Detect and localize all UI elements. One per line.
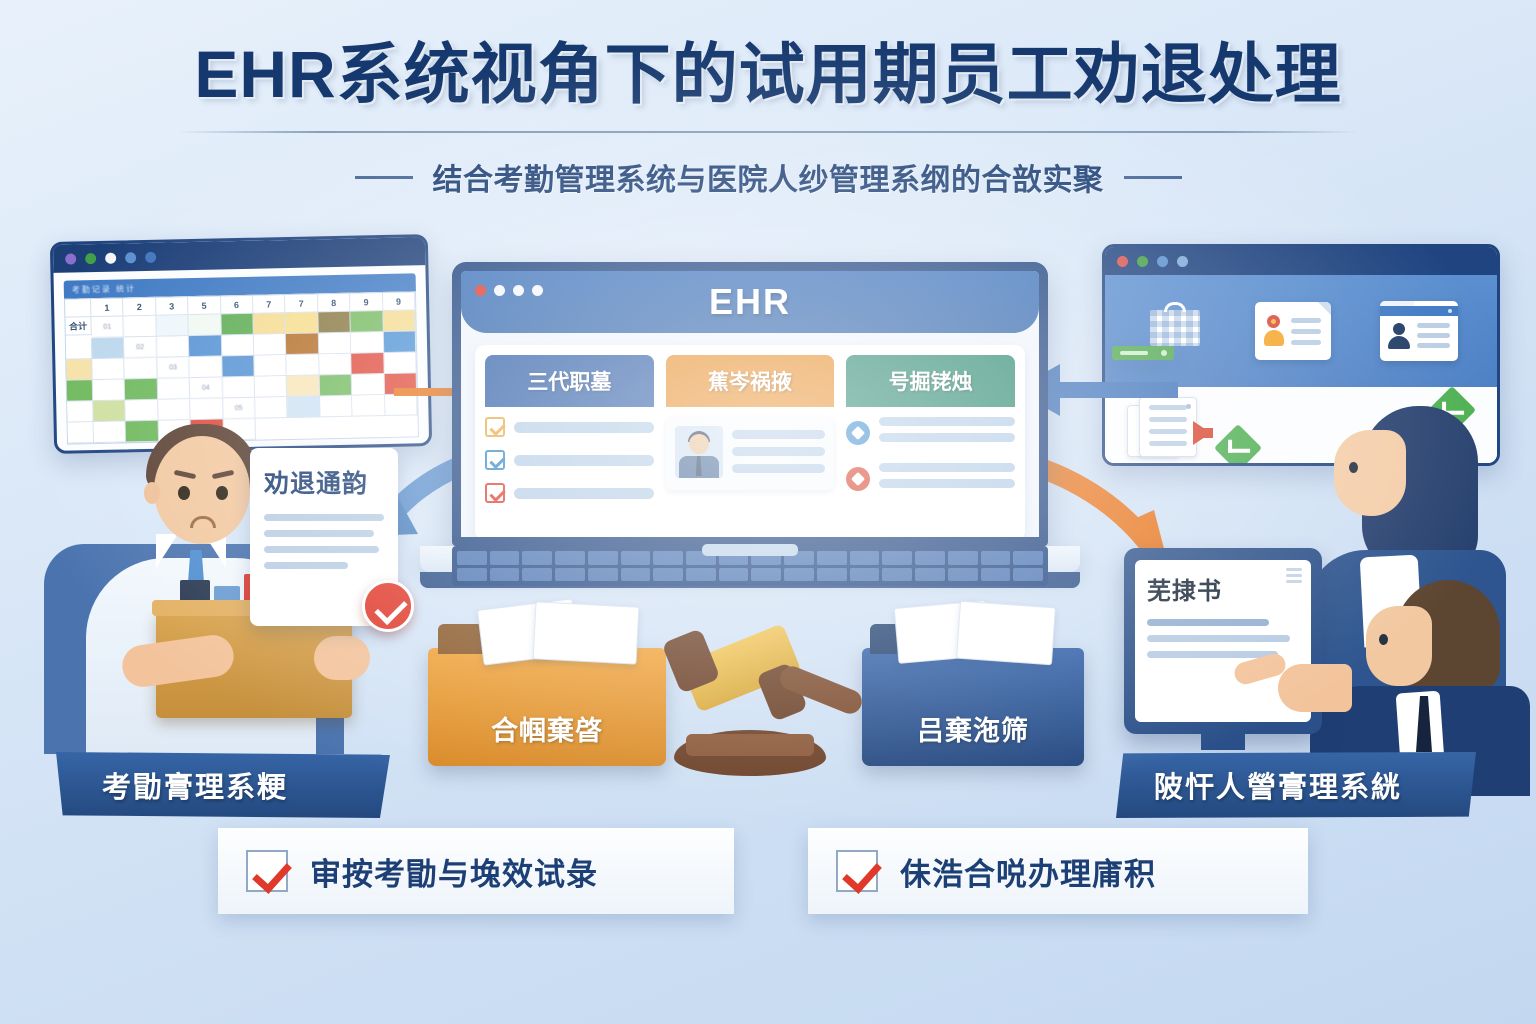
attendance-cell[interactable] bbox=[319, 354, 352, 376]
window-dot-1[interactable] bbox=[65, 253, 76, 264]
attendance-cell[interactable] bbox=[286, 333, 319, 355]
id-card-icon bbox=[1380, 301, 1458, 361]
ehr-title: EHR bbox=[709, 281, 791, 323]
checkbox-item-3[interactable] bbox=[485, 483, 654, 503]
employee-info-lines bbox=[732, 426, 826, 481]
app-window-dots bbox=[475, 285, 543, 296]
status-indicator-approved[interactable] bbox=[846, 417, 1015, 449]
banner-hr-system: 陂忓人謍膏理系絖 bbox=[1116, 752, 1476, 818]
attendance-cell[interactable] bbox=[352, 374, 385, 396]
attendance-cell[interactable] bbox=[125, 358, 158, 380]
attendance-cell[interactable] bbox=[318, 312, 351, 334]
window-dot-2[interactable] bbox=[85, 253, 96, 264]
checkbox-icon[interactable] bbox=[485, 417, 505, 437]
attendance-col-header: 7 bbox=[253, 295, 286, 314]
page-title: EHR系统视角下的试用期员工劝退处理 bbox=[0, 40, 1536, 109]
laptop-base bbox=[420, 546, 1080, 572]
notice-title: 劝退通韵 bbox=[264, 464, 384, 500]
attendance-cell[interactable] bbox=[222, 356, 255, 378]
hr-man-face bbox=[1366, 606, 1432, 686]
pointing-hand bbox=[1278, 664, 1352, 712]
attendance-cell[interactable] bbox=[383, 331, 416, 353]
attendance-col-header: 5 bbox=[188, 296, 221, 315]
employee-right-arm bbox=[314, 636, 370, 680]
ehr-status-column bbox=[846, 417, 1015, 516]
attendance-cell[interactable] bbox=[287, 354, 320, 376]
checklist-text-bar bbox=[514, 488, 654, 499]
attendance-header-text: 考勤记录 统计 bbox=[72, 283, 136, 295]
attendance-cell[interactable] bbox=[352, 395, 385, 417]
window-dot-2[interactable] bbox=[494, 285, 505, 296]
attendance-col-header: 8 bbox=[318, 294, 351, 313]
attendance-cell[interactable] bbox=[189, 356, 222, 378]
window-dot-3[interactable] bbox=[513, 285, 524, 296]
status-dot-icon[interactable] bbox=[846, 421, 870, 445]
attendance-col-header: 9 bbox=[383, 292, 416, 311]
tab-performance[interactable]: 蕉岑祸掖 bbox=[666, 355, 835, 407]
attendance-cell[interactable] bbox=[67, 380, 93, 402]
window-close-dot[interactable] bbox=[475, 285, 486, 296]
window-dot-3[interactable] bbox=[1157, 256, 1168, 267]
ehr-tab-bar: 三代职墓蕉岑祸掖号掘铑烛 bbox=[485, 355, 1015, 407]
folder-employee-label: 吕棄沲筛 bbox=[917, 709, 1029, 748]
attendance-cell[interactable] bbox=[222, 377, 255, 399]
attendance-cell[interactable] bbox=[124, 316, 157, 338]
checkbox-icon[interactable] bbox=[485, 450, 505, 470]
attendance-cell[interactable] bbox=[253, 313, 286, 335]
red-check-icon bbox=[836, 850, 878, 892]
laptop-trackpad[interactable] bbox=[702, 544, 798, 556]
attendance-cell[interactable] bbox=[93, 379, 126, 401]
banner-hr-label: 陂忓人謍膏理系絖 bbox=[1154, 764, 1402, 806]
folder-contract-label: 合帼棄晵 bbox=[491, 709, 603, 748]
attendance-cell[interactable] bbox=[189, 314, 222, 336]
attendance-cell[interactable] bbox=[351, 332, 384, 354]
window-dot-2[interactable] bbox=[1137, 256, 1148, 267]
attendance-cell[interactable] bbox=[351, 311, 384, 333]
notice-body-lines bbox=[264, 514, 384, 569]
building-icon bbox=[1144, 302, 1206, 360]
banner-attendance-label: 考勖膏理系粳 bbox=[102, 764, 288, 806]
ehr-profile-column bbox=[666, 417, 835, 516]
card-review-attendance-performance: 审按考勖与堍效试彔 bbox=[218, 828, 734, 914]
attendance-cell[interactable] bbox=[255, 376, 288, 398]
tab-attendance[interactable]: 三代职墓 bbox=[485, 355, 654, 407]
status-indicator-rejected[interactable] bbox=[846, 463, 1015, 495]
card-legal-compliance-offboarding: 佅浩合哾办理庯积 bbox=[808, 828, 1308, 914]
attendance-row-label: 03 bbox=[157, 357, 190, 379]
attendance-col-header: 6 bbox=[221, 296, 254, 315]
checkbox-icon[interactable] bbox=[485, 483, 505, 503]
checkbox-item-2[interactable] bbox=[485, 450, 654, 470]
menu-icon[interactable] bbox=[1286, 568, 1302, 586]
checklist-text-bar bbox=[514, 422, 654, 433]
ehr-content-columns bbox=[485, 417, 1015, 516]
card-right-label: 佅浩合哾办理庯积 bbox=[900, 849, 1156, 894]
attendance-cell[interactable] bbox=[157, 336, 190, 358]
attendance-cell[interactable] bbox=[383, 310, 416, 332]
attendance-cell[interactable] bbox=[156, 315, 189, 337]
laptop-screen: EHR 三代职墓蕉岑祸掖号掘铑烛 bbox=[452, 262, 1048, 546]
attendance-cell[interactable] bbox=[254, 355, 287, 377]
tab-records[interactable]: 号掘铑烛 bbox=[846, 355, 1015, 407]
attendance-col-header: 7 bbox=[285, 294, 318, 313]
attendance-col-header: 2 bbox=[123, 298, 156, 317]
status-text-lines bbox=[879, 417, 1015, 449]
window-dot-5[interactable] bbox=[145, 251, 156, 262]
checkbox-item-1[interactable] bbox=[485, 417, 654, 437]
red-check-icon bbox=[246, 850, 288, 892]
attendance-cell[interactable] bbox=[287, 375, 320, 397]
banner-attendance-system: 考勖膏理系粳 bbox=[56, 752, 390, 818]
title-divider bbox=[178, 131, 1358, 133]
attendance-row-label: 02 bbox=[124, 337, 157, 359]
ehr-app-header: EHR bbox=[461, 271, 1039, 333]
window-titlebar bbox=[1105, 247, 1497, 275]
attendance-cell[interactable] bbox=[319, 375, 352, 397]
window-dot-4[interactable] bbox=[1177, 256, 1188, 267]
personnel-file-icon bbox=[1255, 302, 1331, 360]
attendance-col-header: 9 bbox=[350, 293, 383, 312]
attendance-cell[interactable] bbox=[189, 335, 222, 357]
page-subtitle: 结合考勤管理系统与医院人纱管理系纲的合敨实聚 bbox=[433, 155, 1104, 199]
attendance-row-label: 04 bbox=[190, 377, 223, 399]
tablet-title: 芜捸书 bbox=[1147, 571, 1299, 606]
attendance-cell[interactable] bbox=[221, 335, 254, 357]
attendance-cell[interactable] bbox=[92, 358, 125, 380]
ehr-panel: 三代职墓蕉岑祸掖号掘铑烛 bbox=[475, 345, 1025, 541]
folder-contract-archive: 合帼棄晵 bbox=[428, 648, 666, 766]
attendance-cell[interactable] bbox=[125, 379, 158, 401]
attendance-cell[interactable] bbox=[351, 353, 384, 375]
tablet-body-lines bbox=[1147, 619, 1299, 658]
subtitle-row: 结合考勤管理系统与医院人纱管理系纲的合敨实聚 bbox=[0, 155, 1536, 199]
attendance-cell[interactable] bbox=[92, 337, 125, 359]
header: EHR系统视角下的试用期员工劝退处理 结合考勤管理系统与医院人纱管理系纲的合敨实… bbox=[0, 40, 1536, 199]
attendance-cell[interactable] bbox=[254, 334, 287, 356]
red-check-badge bbox=[362, 580, 414, 632]
window-dot-4[interactable] bbox=[125, 252, 136, 263]
ehr-laptop: EHR 三代职墓蕉岑祸掖号掘铑烛 bbox=[452, 262, 1048, 588]
hr-tablet[interactable]: 芜捸书 bbox=[1124, 548, 1322, 734]
card-left-label: 审按考勖与堍效试彔 bbox=[310, 849, 598, 894]
attendance-cell[interactable] bbox=[158, 378, 191, 400]
attendance-cell[interactable] bbox=[66, 359, 92, 381]
dash-left bbox=[355, 176, 413, 179]
window-dot-1[interactable] bbox=[1117, 256, 1128, 267]
attendance-col-header: 合计 bbox=[65, 317, 91, 336]
attendance-col-header: 3 bbox=[156, 297, 189, 316]
attendance-corner-cell bbox=[65, 299, 91, 318]
infographic-canvas: EHR系统视角下的试用期员工劝退处理 结合考勤管理系统与医院人纱管理系纲的合敨实… bbox=[0, 0, 1536, 1024]
attendance-cell[interactable] bbox=[66, 338, 92, 360]
attendance-cell[interactable] bbox=[286, 312, 319, 334]
window-dot-3[interactable] bbox=[105, 252, 116, 263]
dash-right bbox=[1124, 176, 1182, 179]
tablet-stand bbox=[1201, 734, 1245, 750]
window-dot-4[interactable] bbox=[532, 285, 543, 296]
checklist-text-bar bbox=[514, 455, 654, 466]
legal-gavel-icon bbox=[660, 612, 860, 776]
status-text-lines bbox=[879, 463, 1015, 495]
employee-avatar bbox=[675, 426, 723, 478]
attendance-col-header: 1 bbox=[91, 298, 124, 317]
status-dot-icon[interactable] bbox=[846, 467, 870, 491]
folder-employee-archive: 吕棄沲筛 bbox=[862, 648, 1084, 766]
attendance-cell[interactable] bbox=[319, 333, 352, 355]
attendance-row-label: 01 bbox=[91, 316, 124, 338]
ehr-checklist-column bbox=[485, 417, 654, 516]
attendance-cell[interactable] bbox=[221, 314, 254, 336]
hr-woman-face bbox=[1334, 430, 1406, 516]
dismissal-notice-document: 劝退通韵 bbox=[250, 448, 398, 626]
employee-profile-card[interactable] bbox=[666, 417, 835, 490]
